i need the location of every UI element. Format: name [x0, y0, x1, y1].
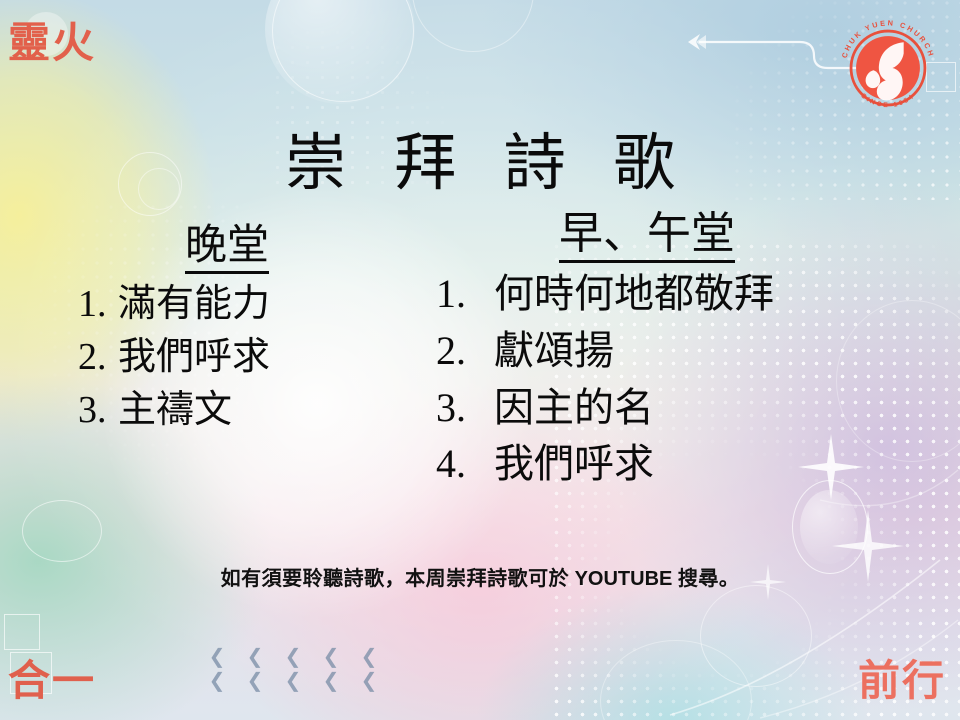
- footer-note-suffix: 搜尋。: [672, 568, 739, 590]
- bubble-decor: [792, 480, 868, 574]
- list-item: 2. 我們呼求: [78, 331, 392, 384]
- song-number: 1.: [78, 278, 118, 331]
- song-number: 4.: [436, 436, 494, 493]
- list-item: 4. 我們呼求: [436, 436, 882, 493]
- column-heading-evening-text: 晚堂: [185, 223, 269, 274]
- chevron-decor-group: ❮ ❮ ❮ ❮ ❮ ❮ ❮ ❮ ❮ ❮: [198, 644, 388, 692]
- chevron-left-icon: ❮: [361, 646, 378, 666]
- bubble-decor: [22, 500, 102, 562]
- column-heading-morning-text: 早、午堂: [559, 209, 735, 263]
- bubble-decor: [800, 490, 858, 564]
- footer-note-prefix: 如有須要聆聽詩歌，本周崇拜詩歌可於: [221, 568, 575, 590]
- corner-word-bottom-left: 合一: [8, 660, 96, 702]
- square-decor: [4, 614, 40, 650]
- chevron-left-icon: ❮: [361, 670, 378, 690]
- list-item: 1. 何時何地都敬拜: [436, 266, 882, 323]
- song-title: 何時何地都敬拜: [494, 266, 882, 323]
- column-heading-morning: 早、午堂: [412, 208, 882, 260]
- list-item: 2. 獻頌揚: [436, 323, 882, 380]
- bubble-decor: [600, 640, 752, 720]
- corner-word-bottom-right: 前行: [858, 660, 946, 702]
- bubble-decor: [700, 585, 812, 687]
- chevron-left-icon: ❮: [247, 646, 264, 666]
- song-number: 2.: [436, 323, 494, 380]
- column-heading-evening: 晚堂: [62, 222, 392, 272]
- song-list-morning: 1. 何時何地都敬拜 2. 獻頌揚 3. 因主的名 4. 我們呼求: [436, 266, 882, 493]
- chevron-left-icon: ❮: [209, 646, 226, 666]
- footer-note: 如有須要聆聽詩歌，本周崇拜詩歌可於 YOUTUBE 搜尋。: [0, 562, 960, 591]
- chevron-left-icon: ❮: [285, 646, 302, 666]
- chevron-left-icon: ❮: [209, 670, 226, 690]
- song-title: 我們呼求: [494, 436, 882, 493]
- chevron-left-icon: ❮: [323, 670, 340, 690]
- song-title: 主禱文: [118, 384, 392, 437]
- song-title: 因主的名: [494, 380, 882, 437]
- chevron-left-icon: ❮: [247, 670, 264, 690]
- song-number: 3.: [436, 380, 494, 437]
- song-number: 1.: [436, 266, 494, 323]
- church-logo: CHUK YUEN CHURCH SINCE 1954: [832, 12, 944, 124]
- song-title: 我們呼求: [118, 331, 392, 384]
- chevron-left-icon: ❮: [323, 646, 340, 666]
- bubble-decor: [272, 0, 414, 102]
- song-title: 獻頌揚: [494, 323, 882, 380]
- song-number: 3.: [78, 384, 118, 437]
- footer-note-brand: YOUTUBE: [575, 568, 673, 590]
- chevron-left-icon: ❮: [285, 670, 302, 690]
- slide-title: 崇 拜 詩 歌: [0, 132, 960, 197]
- song-number: 2.: [78, 331, 118, 384]
- song-list-evening: 1. 滿有能力 2. 我們呼求 3. 主禱文: [78, 278, 392, 438]
- column-evening-service: 晚堂 1. 滿有能力 2. 我們呼求 3. 主禱文: [62, 222, 392, 437]
- bubble-decor: [412, 0, 534, 52]
- bubble-decor: [265, 0, 415, 104]
- list-item: 3. 因主的名: [436, 380, 882, 437]
- column-morning-noon-service: 早、午堂 1. 何時何地都敬拜 2. 獻頌揚 3. 因主的名 4. 我們呼求: [412, 208, 882, 493]
- list-item: 3. 主禱文: [78, 384, 392, 437]
- list-item: 1. 滿有能力: [78, 278, 392, 331]
- slide-canvas: CHUK YUEN CHURCH SINCE 1954 靈火 合一 前行 崇 拜…: [0, 0, 960, 720]
- song-title: 滿有能力: [118, 278, 392, 331]
- corner-word-top-left: 靈火: [8, 22, 96, 64]
